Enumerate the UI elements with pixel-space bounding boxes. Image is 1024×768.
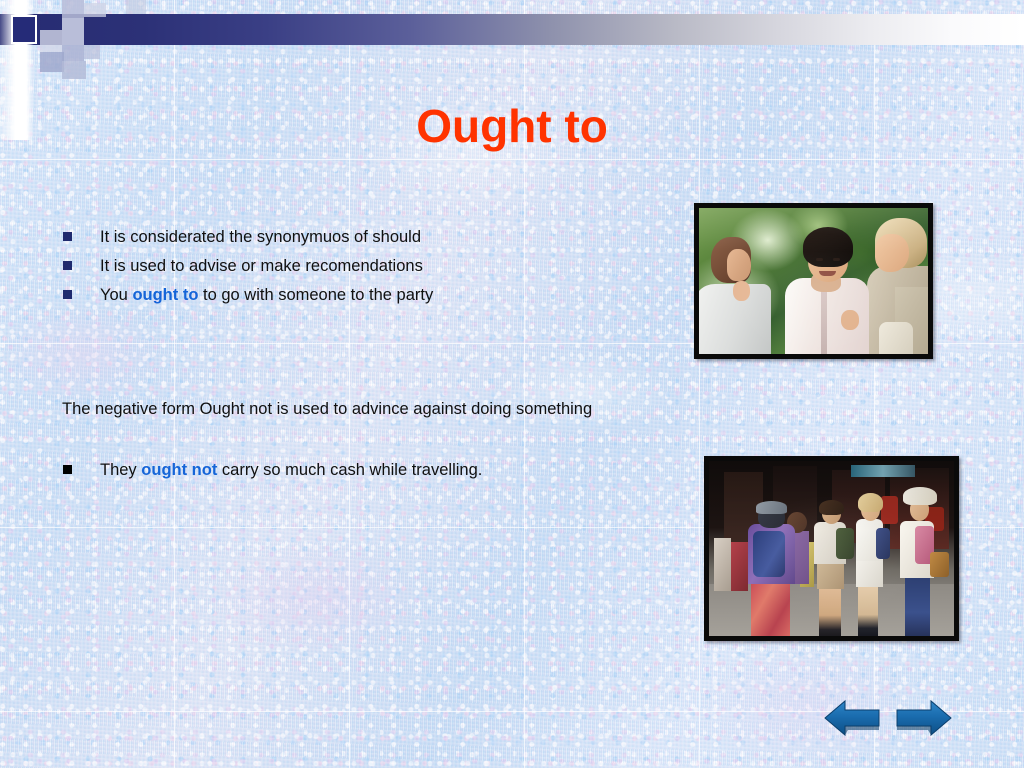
photo-soft-focus-overlay [709, 461, 954, 636]
list-item: They ought not carry so much cash while … [58, 461, 658, 490]
list-item: You ought to to go with someone to the p… [58, 286, 658, 315]
decorative-square [40, 52, 64, 72]
decorative-square [84, 3, 106, 17]
decorative-square [62, 61, 86, 79]
decorative-square [40, 30, 62, 52]
previous-slide-button[interactable] [821, 696, 883, 740]
list-item: It is considerated the synonymuos of sho… [58, 228, 658, 257]
bullet-list-top: It is considerated the synonymuos of sho… [58, 228, 658, 315]
list-item-label: It is used to advise or make recomendati… [100, 257, 423, 276]
decorative-square [126, 0, 146, 14]
slide-title: Ought to [0, 99, 1024, 153]
next-slide-button[interactable] [893, 696, 955, 740]
accent-square [13, 17, 35, 42]
list-item-label: It is considerated the synonymuos of sho… [100, 228, 421, 247]
list-item-label: They ought not carry so much cash while … [100, 461, 482, 480]
slide-canvas: Ought to It is considerated the synonymu… [0, 0, 1024, 768]
header-gradient-band [0, 14, 1024, 45]
highlighted-phrase: ought not [141, 461, 217, 479]
decorative-square [62, 18, 84, 45]
list-item-label: You ought to to go with someone to the p… [100, 286, 433, 305]
highlighted-phrase: ought to [132, 286, 198, 304]
list-item: It is used to advise or make recomendati… [58, 257, 658, 286]
tourists-with-backpacks-market-photo [704, 456, 959, 641]
photo-soft-focus-overlay [699, 208, 928, 354]
decorative-square [62, 45, 84, 61]
bullet-list-bottom: They ought not carry so much cash while … [58, 461, 658, 490]
decorative-square [84, 45, 100, 59]
negative-form-paragraph: The negative form Ought not is used to a… [62, 400, 592, 419]
three-people-talking-outdoors-photo [694, 203, 933, 359]
decorative-square [62, 0, 84, 18]
